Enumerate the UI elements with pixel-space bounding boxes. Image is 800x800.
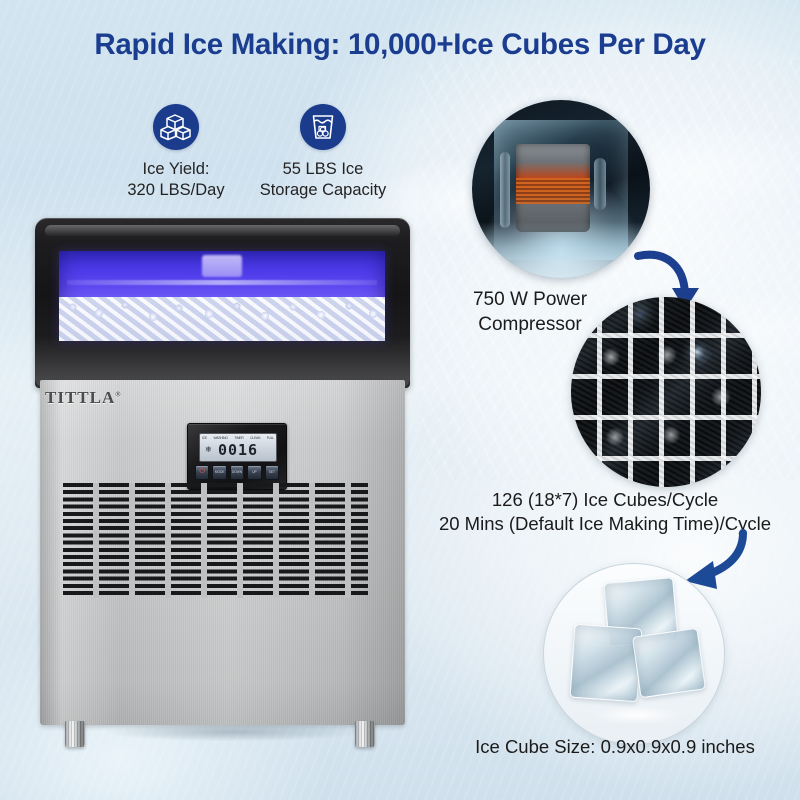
snowflake-icon: ❄ (205, 445, 212, 454)
feature-storage-text: 55 LBS Ice Storage Capacity (228, 159, 418, 201)
ice-maker-machine: TITTLA® ICE WASHING TIMER CLEAN FULL 001… (35, 218, 410, 748)
feature-line-1: 55 LBS Ice (228, 159, 418, 180)
control-button-row[interactable]: ⏻ MODE DOWN UP SET (195, 465, 279, 480)
window-light-bar (67, 280, 377, 285)
compressor-photo (472, 100, 650, 278)
cycle-label-line-1: 126 (18*7) Ice Cubes/Cycle (410, 488, 800, 512)
window-inner-light (202, 255, 242, 277)
ice-cube-right (632, 628, 706, 699)
brand-logo-text: TITTLA (45, 388, 115, 407)
lcd-label-ice: ICE (202, 436, 207, 440)
lcd-label-washing: WASHING (213, 436, 227, 440)
frost-overlay (472, 222, 650, 278)
set-button[interactable]: SET (265, 465, 279, 480)
brand-logo-mark: ® (115, 390, 121, 398)
machine-leg-left (65, 721, 85, 747)
ice-glass-icon (300, 104, 346, 150)
lcd-label-clean: CLEAN (250, 436, 260, 440)
ice-mold-texture (571, 297, 761, 487)
feature-storage-capacity: 55 LBS Ice Storage Capacity (228, 104, 418, 201)
hood-edge-highlight (45, 225, 400, 237)
ice-cubes-icon (153, 104, 199, 150)
lcd-label-full: FULL (267, 436, 274, 440)
power-button[interactable]: ⏻ (195, 465, 209, 480)
compressor-pipe-left (500, 152, 510, 228)
lcd-label-timer: TIMER (234, 436, 243, 440)
ice-bin-window (59, 251, 385, 341)
machine-top-hood (35, 218, 410, 388)
cube-size-label-line-1: Ice Cube Size: 0.9x0.9x0.9 inches (430, 735, 800, 759)
feature-line-2: Storage Capacity (228, 180, 418, 201)
compressor-coil (516, 178, 590, 204)
ice-mold-photo (571, 297, 761, 487)
ice-cubes-photo (543, 563, 725, 745)
minus-button[interactable]: DOWN (230, 465, 244, 480)
page-title: Rapid Ice Making: 10,000+Ice Cubes Per D… (0, 28, 800, 62)
machine-leg-right (355, 721, 375, 747)
brand-logo: TITTLA® (45, 388, 121, 408)
plus-button[interactable]: UP (247, 465, 261, 480)
cube-reflection (574, 702, 700, 728)
ventilation-grille-columns (63, 483, 368, 598)
compressor-pipe-right (594, 158, 606, 210)
ice-cube-left (570, 624, 643, 703)
control-panel[interactable]: ICE WASHING TIMER CLEAN FULL 0016 ❄ ⏻ MO… (187, 423, 287, 490)
ice-cubes-in-bin (59, 297, 385, 341)
product-infographic: Rapid Ice Making: 10,000+Ice Cubes Per D… (0, 0, 800, 800)
mode-button[interactable]: MODE (212, 465, 226, 480)
cube-size-label: Ice Cube Size: 0.9x0.9x0.9 inches (430, 735, 800, 759)
lcd-display: ICE WASHING TIMER CLEAN FULL 0016 ❄ (199, 433, 277, 462)
